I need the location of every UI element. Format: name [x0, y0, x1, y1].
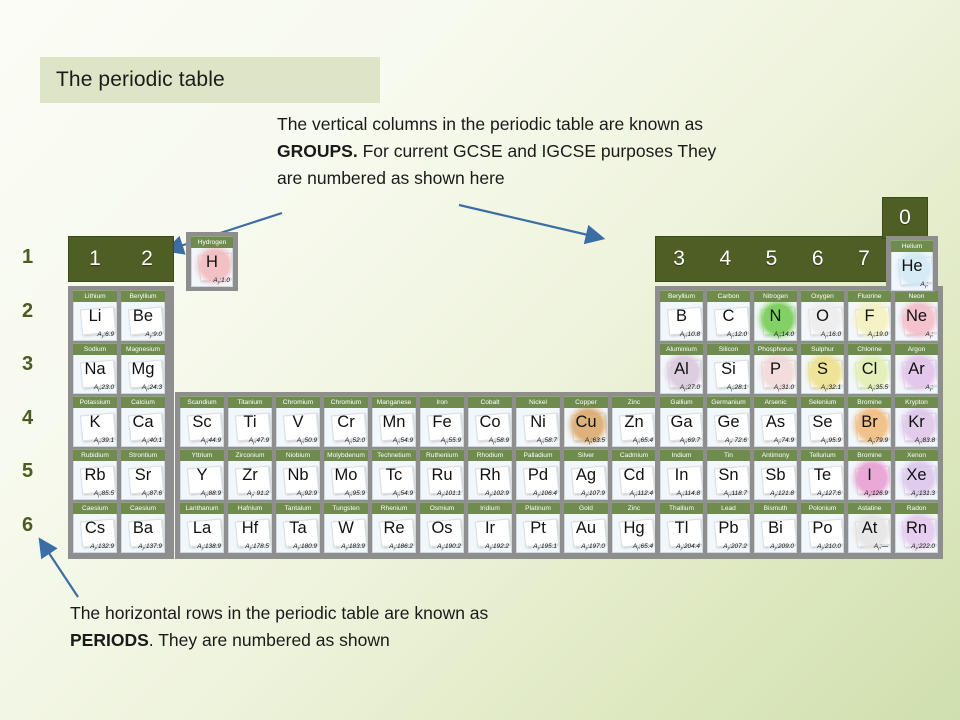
element-relative-atomic-mass: Ar;58.7 — [537, 437, 557, 446]
element-tile: SeAr;95.9 — [801, 408, 844, 447]
element-tile: KrAr;83.8 — [895, 408, 938, 447]
element-tile: OsAr;190.2 — [420, 514, 464, 553]
element-name: Palladium — [516, 449, 560, 461]
element-symbol: Tc — [373, 464, 415, 486]
element-name: Gold — [564, 502, 608, 514]
element-row: GalliumGaAr;69.7GermaniumGeAr; 72.6Arsen… — [658, 395, 940, 448]
element-name: Molybdenum — [324, 449, 368, 461]
element-tile: OAr;16.0 — [801, 302, 844, 341]
element-symbol: Rh — [469, 464, 511, 486]
element-symbol: Ga — [661, 411, 702, 433]
element-relative-atomic-mass: Ar;69.7 — [680, 437, 700, 446]
element-relative-atomic-mass: Ar; 91.2 — [247, 490, 269, 499]
element-tile: MgAr;24.3 — [121, 355, 165, 394]
element-relative-atomic-mass: Ar;127.6 — [817, 490, 841, 499]
element-name: Sulphur — [801, 343, 844, 355]
element-cell-Hf[interactable]: HafniumHfAr;178.5 — [226, 501, 274, 554]
element-symbol: I — [849, 464, 890, 486]
element-symbol: S — [802, 358, 843, 380]
element-cell-Ru[interactable]: RutheniumRuAr;101.1 — [418, 448, 466, 501]
element-cell-Se[interactable]: SeleniumSeAr;95.9 — [799, 395, 846, 448]
period-number-3: 3 — [22, 353, 54, 407]
element-cell-Ni[interactable]: NickelNiAr;58.7 — [514, 395, 562, 448]
element-symbol: Ti — [229, 411, 271, 433]
element-cell-Mn[interactable]: ManganeseMnAr;54.9 — [370, 395, 418, 448]
element-tile: CaAr;40.1 — [121, 408, 165, 447]
element-relative-atomic-mass: Ar;23.0 — [94, 384, 114, 393]
element-relative-atomic-mass: Ar;10.8 — [680, 331, 700, 340]
element-cell-La[interactable]: LanthanumLaAr;138.9 — [178, 501, 226, 554]
element-tile: TlAr;204.4 — [660, 514, 703, 553]
element-cell-Sb[interactable]: AntimonySbAr;121.8 — [752, 448, 799, 501]
element-relative-atomic-mass: Ar;197.0 — [581, 543, 605, 552]
group-label-7: 7 — [841, 247, 887, 271]
element-symbol: Cu — [565, 411, 607, 433]
element-tile: NiAr;58.7 — [516, 408, 560, 447]
element-tile: CrAr;52.0 — [324, 408, 368, 447]
element-name: Hydrogen — [191, 236, 233, 248]
element-name: Zinc — [612, 396, 656, 408]
element-tile: RhAr;102.9 — [468, 461, 512, 500]
element-relative-atomic-mass: Ar;118.7 — [724, 490, 747, 499]
element-relative-atomic-mass: Ar; 72.6 — [725, 437, 747, 446]
element-name: Zirconium — [228, 449, 272, 461]
element-symbol: Mn — [373, 411, 415, 433]
element-cell-Ir[interactable]: IridiumIrAr;192.2 — [466, 501, 514, 554]
element-tile: BaAr;137.9 — [121, 514, 165, 553]
element-name: Thallium — [660, 502, 703, 514]
element-cell-Zr[interactable]: ZirconiumZrAr; 91.2 — [226, 448, 274, 501]
element-symbol: Hg — [613, 517, 655, 539]
element-cell-Pt[interactable]: PlatinumPtAr;195.1 — [514, 501, 562, 554]
element-symbol: Si — [708, 358, 749, 380]
groups-description: The vertical columns in the periodic tab… — [277, 111, 717, 192]
element-relative-atomic-mass: Ar;6.9 — [97, 331, 114, 340]
element-cell-O[interactable]: OxygenOAr;16.0 — [799, 289, 846, 342]
element-name: Iron — [420, 396, 464, 408]
element-tile: ZnAr;65.4 — [612, 408, 656, 447]
element-row: YttriumYAr;88.9ZirconiumZrAr; 91.2Niobiu… — [178, 448, 660, 501]
element-symbol: Zr — [229, 464, 271, 486]
group-label-2: 2 — [121, 247, 173, 271]
element-relative-atomic-mass: Ar;112.4 — [630, 490, 653, 499]
element-relative-atomic-mass: Ar;55.9 — [441, 437, 461, 446]
periods-description-part1: The horizontal rows in the periodic tabl… — [70, 603, 488, 623]
element-cell-W[interactable]: TungstenWAr;183.9 — [322, 501, 370, 554]
element-name: Silver — [564, 449, 608, 461]
element-symbol: Ge — [708, 411, 749, 433]
element-symbol: Rb — [74, 464, 116, 486]
element-name: Calcium — [121, 396, 165, 408]
element-relative-atomic-mass: Ar;24.3 — [142, 384, 162, 393]
element-tile: GaAr;69.7 — [660, 408, 703, 447]
element-tile: TiAr;47.9 — [228, 408, 272, 447]
element-tile: HeAr; — [891, 252, 933, 291]
element-tile: BiAr;209.0 — [754, 514, 797, 553]
element-name: Lithium — [73, 290, 117, 302]
element-cell-At[interactable]: AstatineAtAr;— — [846, 501, 893, 554]
element-symbol: Sn — [708, 464, 749, 486]
element-relative-atomic-mass: Ar;138.9 — [197, 543, 221, 552]
element-cell-B[interactable]: BerylliumBAr;10.8 — [658, 289, 705, 342]
element-cell-K[interactable]: PotassiumKAr;39.1 — [71, 395, 119, 448]
element-tile: TeAr;127.6 — [801, 461, 844, 500]
element-tile: CuAr;63.5 — [564, 408, 608, 447]
element-cell-P[interactable]: PhosphorusPAr;31.0 — [752, 342, 799, 395]
period-number-list: 123456 — [22, 246, 54, 567]
element-cell-Zn[interactable]: ZincZnAr;65.4 — [610, 395, 658, 448]
element-tile: GeAr; 72.6 — [707, 408, 750, 447]
element-name: Chlorine — [848, 343, 891, 355]
element-symbol: W — [325, 517, 367, 539]
element-relative-atomic-mass: Ar;121.8 — [770, 490, 794, 499]
element-row: BerylliumBAr;10.8CarbonCAr;12.0NitrogenN… — [658, 289, 940, 342]
element-tile: VAr;50.9 — [276, 408, 320, 447]
element-cell-Br[interactable]: BromineBrAr;79.9 — [846, 395, 893, 448]
element-cell-Ca[interactable]: CalciumCaAr;40.1 — [119, 395, 167, 448]
element-cell-Au[interactable]: GoldAuAr;197.0 — [562, 501, 610, 554]
element-name: Radon — [895, 502, 938, 514]
element-tile: PtAr;195.1 — [516, 514, 560, 553]
element-tile: SnAr;118.7 — [707, 461, 750, 500]
element-relative-atomic-mass: Ar;50.9 — [297, 437, 317, 446]
element-cell-Rb[interactable]: RubidiumRbAr;85.5 — [71, 448, 119, 501]
element-cell-Nb[interactable]: NiobiumNbAr;92.9 — [274, 448, 322, 501]
element-cell-Pb[interactable]: LeadPbAr;207.2 — [705, 501, 752, 554]
element-symbol: As — [755, 411, 796, 433]
element-tile: PbAr;207.2 — [707, 514, 750, 553]
element-name: Rhenium — [372, 502, 416, 514]
element-tile: TaAr;180.9 — [276, 514, 320, 553]
element-tile: InAr;114.8 — [660, 461, 703, 500]
element-relative-atomic-mass: Ar;131.3 — [911, 490, 935, 499]
element-relative-atomic-mass: Ar;195.1 — [533, 543, 557, 552]
element-tile: FAr;19.0 — [848, 302, 891, 341]
element-row: HeliumHeAr; — [889, 239, 935, 292]
element-relative-atomic-mass: Ar;9.0 — [145, 331, 162, 340]
element-symbol: Mo — [325, 464, 367, 486]
element-cell-Mg[interactable]: MagnesiumMgAr;24.3 — [119, 342, 167, 395]
element-cell-Ga[interactable]: GalliumGaAr;69.7 — [658, 395, 705, 448]
slide-title-bar: The periodic table — [40, 57, 380, 103]
element-relative-atomic-mass: Ar;222.0 — [911, 543, 935, 552]
element-cell-Po[interactable]: PoloniumPoAr;210.0 — [799, 501, 846, 554]
element-relative-atomic-mass: Ar;87.6 — [142, 490, 162, 499]
element-tile: NAr;14.0 — [754, 302, 797, 341]
element-tile: HgAr;65.4 — [612, 514, 656, 553]
periodic-block-groups-3-0: BerylliumBAr;10.8CarbonCAr;12.0NitrogenN… — [655, 286, 943, 559]
element-name: Silicon — [707, 343, 750, 355]
element-name: Iridium — [468, 502, 512, 514]
element-cell-Cs[interactable]: CaesiumCsAr;132.9 — [71, 501, 119, 554]
element-tile: IAr;126.9 — [848, 461, 891, 500]
element-relative-atomic-mass: Ar;192.2 — [485, 543, 509, 552]
element-row: IndiumInAr;114.8TinSnAr;118.7AntimonySbA… — [658, 448, 940, 501]
element-tile: CAr;12.0 — [707, 302, 750, 341]
element-tile: CsAr;132.9 — [73, 514, 117, 553]
group-label-1: 1 — [69, 247, 121, 271]
element-cell-In[interactable]: IndiumInAr;114.8 — [658, 448, 705, 501]
element-cell-Si[interactable]: SiliconSiAr;28.1 — [705, 342, 752, 395]
element-name: Sodium — [73, 343, 117, 355]
element-cell-Kr[interactable]: KryptonKrAr;83.8 — [893, 395, 940, 448]
element-symbol: Pb — [708, 517, 749, 539]
element-symbol: B — [661, 305, 702, 327]
element-cell-Ba[interactable]: CaesiumBaAr;137.9 — [119, 501, 167, 554]
element-tile: KAr;39.1 — [73, 408, 117, 447]
element-cell-Al[interactable]: AluminiumAlAr;27.0 — [658, 342, 705, 395]
element-relative-atomic-mass: Ar;210.0 — [817, 543, 841, 552]
element-symbol: Cs — [74, 517, 116, 539]
element-relative-atomic-mass: Ar;204.4 — [676, 543, 700, 552]
element-symbol: Ru — [421, 464, 463, 486]
element-symbol: Mg — [122, 358, 164, 380]
element-name: Rubidium — [73, 449, 117, 461]
element-cell-Mo[interactable]: MolybdenumMoAr;95.9 — [322, 448, 370, 501]
element-name: Germanium — [707, 396, 750, 408]
element-tile: SbAr;121.8 — [754, 461, 797, 500]
element-cell-Be[interactable]: BerylliumBeAr;9.0 — [119, 289, 167, 342]
element-relative-atomic-mass: Ar;28.1 — [727, 384, 747, 393]
element-tile: AlAr;27.0 — [660, 355, 703, 394]
element-relative-atomic-mass: Ar;114.8 — [677, 490, 700, 499]
element-relative-atomic-mass: Ar;74.9 — [774, 437, 794, 446]
element-relative-atomic-mass: Ar;1.0 — [213, 277, 230, 286]
element-name: Platinum — [516, 502, 560, 514]
element-symbol: Ag — [565, 464, 607, 486]
element-name: Tungsten — [324, 502, 368, 514]
element-name: Yttrium — [180, 449, 224, 461]
element-tile: ArAr; — [895, 355, 938, 394]
element-name: Tellurium — [801, 449, 844, 461]
element-symbol: Pt — [517, 517, 559, 539]
element-relative-atomic-mass: Ar;83.8 — [915, 437, 935, 446]
element-name: Chromium — [324, 396, 368, 408]
element-cell-Ti[interactable]: TitaniumTiAr;47.9 — [226, 395, 274, 448]
element-cell-H[interactable]: HydrogenHAr;1.0 — [189, 235, 235, 288]
element-cell-Hg[interactable]: ZincHgAr;65.4 — [610, 501, 658, 554]
element-symbol: V — [277, 411, 319, 433]
element-cell-As[interactable]: ArsenicAsAr;74.9 — [752, 395, 799, 448]
element-cell-Cr[interactable]: ChromiumCrAr;52.0 — [322, 395, 370, 448]
element-cell-Cl[interactable]: ChlorineClAr;35.5 — [846, 342, 893, 395]
element-tile: SAr;32.1 — [801, 355, 844, 394]
element-cell-He[interactable]: HeliumHeAr; — [889, 239, 935, 292]
element-cell-Ar[interactable]: ArgonArAr; — [893, 342, 940, 395]
element-name: Phosphorus — [754, 343, 797, 355]
element-tile: BrAr;79.9 — [848, 408, 891, 447]
element-cell-Os[interactable]: OsmiumOsAr;190.2 — [418, 501, 466, 554]
element-name: Helium — [891, 240, 933, 252]
element-cell-Ne[interactable]: NeonNeAr; — [893, 289, 940, 342]
element-name: Tantalum — [276, 502, 320, 514]
element-relative-atomic-mass: Ar;39.1 — [94, 437, 114, 446]
element-name: Oxygen — [801, 290, 844, 302]
element-cell-Ta[interactable]: TantalumTaAr;180.9 — [274, 501, 322, 554]
element-symbol: Ta — [277, 517, 319, 539]
element-tile: CoAr;58.9 — [468, 408, 512, 447]
element-tile: YAr;88.9 — [180, 461, 224, 500]
element-cell-Sn[interactable]: TinSnAr;118.7 — [705, 448, 752, 501]
element-relative-atomic-mass: Ar; — [921, 281, 931, 290]
element-cell-Co[interactable]: CobaltCoAr;58.9 — [466, 395, 514, 448]
element-tile: XeAr;131.3 — [895, 461, 938, 500]
element-name: Arsenic — [754, 396, 797, 408]
element-relative-atomic-mass: Ar;183.9 — [341, 543, 365, 552]
element-name: Bromine — [848, 449, 891, 461]
element-tile: ClAr;35.5 — [848, 355, 891, 394]
element-cell-F[interactable]: FluorineFAr;19.0 — [846, 289, 893, 342]
element-cell-Cu[interactable]: CopperCuAr;63.5 — [562, 395, 610, 448]
element-tile: MoAr;95.9 — [324, 461, 368, 500]
element-cell-Na[interactable]: SodiumNaAr;23.0 — [71, 342, 119, 395]
element-symbol: In — [661, 464, 702, 486]
element-tile: AgAr;107.9 — [564, 461, 608, 500]
element-tile: PAr;31.0 — [754, 355, 797, 394]
element-tile: HfAr;178.5 — [228, 514, 272, 553]
element-symbol: Co — [469, 411, 511, 433]
element-tile: NeAr; — [895, 302, 938, 341]
element-symbol: Sr — [122, 464, 164, 486]
element-relative-atomic-mass: Ar;47.9 — [249, 437, 269, 446]
period-number-1: 1 — [22, 246, 54, 300]
element-name: Bromine — [848, 396, 891, 408]
element-symbol: Tl — [661, 517, 702, 539]
element-name: Rhodium — [468, 449, 512, 461]
element-symbol: Be — [122, 305, 164, 327]
element-tile: AsAr;74.9 — [754, 408, 797, 447]
element-cell-Li[interactable]: LithiumLiAr;6.9 — [71, 289, 119, 342]
element-row: ThalliumTlAr;204.4LeadPbAr;207.2BismuthB… — [658, 501, 940, 554]
element-row: LanthanumLaAr;138.9HafniumHfAr;178.5Tant… — [178, 501, 660, 554]
element-tile: NaAr;23.0 — [73, 355, 117, 394]
element-relative-atomic-mass: Ar;92.9 — [297, 490, 317, 499]
element-cell-Te[interactable]: TelluriumTeAr;127.6 — [799, 448, 846, 501]
element-symbol: Ne — [896, 305, 937, 327]
groups-keyword: GROUPS. — [277, 141, 358, 161]
element-tile: ZrAr; 91.2 — [228, 461, 272, 500]
element-name: Zinc — [612, 502, 656, 514]
element-cell-Ge[interactable]: GermaniumGeAr; 72.6 — [705, 395, 752, 448]
element-tile: PoAr;210.0 — [801, 514, 844, 553]
element-symbol: Sb — [755, 464, 796, 486]
group-label-6: 6 — [795, 247, 841, 271]
element-symbol: He — [892, 255, 932, 277]
element-tile: FeAr;55.9 — [420, 408, 464, 447]
element-tile: RuAr;101.1 — [420, 461, 464, 500]
element-name: Astatine — [848, 502, 891, 514]
element-cell-Re[interactable]: RheniumReAr;186.2 — [370, 501, 418, 554]
element-symbol: At — [849, 517, 890, 539]
element-symbol: Te — [802, 464, 843, 486]
element-cell-Ag[interactable]: SilverAgAr;107.9 — [562, 448, 610, 501]
element-row: ScandiumScAr;44.9TitaniumTiAr;47.9Chromi… — [178, 395, 660, 448]
group-label-3: 3 — [656, 247, 702, 271]
element-cell-Y[interactable]: YttriumYAr;88.9 — [178, 448, 226, 501]
element-name: Lead — [707, 502, 750, 514]
element-cell-Sc[interactable]: ScandiumScAr;44.9 — [178, 395, 226, 448]
periods-keyword: PERIODS — [70, 630, 149, 650]
element-cell-Tl[interactable]: ThalliumTlAr;204.4 — [658, 501, 705, 554]
element-cell-Rh[interactable]: RhodiumRhAr;102.9 — [466, 448, 514, 501]
element-symbol: Xe — [896, 464, 937, 486]
element-name: Potassium — [73, 396, 117, 408]
group-label-4: 4 — [702, 247, 748, 271]
element-cell-Xe[interactable]: XenonXeAr;131.3 — [893, 448, 940, 501]
element-name: Cobalt — [468, 396, 512, 408]
element-cell-Bi[interactable]: BismuthBiAr;209.0 — [752, 501, 799, 554]
element-cell-I[interactable]: BromineIAr;126.9 — [846, 448, 893, 501]
element-cell-Rn[interactable]: RadonRnAr;222.0 — [893, 501, 940, 554]
element-cell-Fe[interactable]: IronFeAr;55.9 — [418, 395, 466, 448]
element-cell-N[interactable]: NitrogenNAr;14.0 — [752, 289, 799, 342]
element-relative-atomic-mass: Ar; — [926, 384, 936, 393]
element-tile: BAr;10.8 — [660, 302, 703, 341]
element-cell-Sr[interactable]: StrontiumSrAr;87.6 — [119, 448, 167, 501]
element-row: PotassiumKAr;39.1CalciumCaAr;40.1 — [71, 395, 171, 448]
periodic-block-helium: HeliumHeAr; — [886, 236, 938, 291]
element-relative-atomic-mass: Ar;12.0 — [727, 331, 747, 340]
element-name: Beryllium — [660, 290, 703, 302]
element-relative-atomic-mass: Ar;58.9 — [489, 437, 509, 446]
element-symbol: Rn — [896, 517, 937, 539]
element-tile: AuAr;197.0 — [564, 514, 608, 553]
periods-description-part2: . They are numbered as shown — [149, 630, 390, 650]
element-tile: ScAr;44.9 — [180, 408, 224, 447]
element-cell-Tc[interactable]: TechnetiumTcAr;54.9 — [370, 448, 418, 501]
element-tile: RnAr;222.0 — [895, 514, 938, 553]
element-name: Beryllium — [121, 290, 165, 302]
element-name: Titanium — [228, 396, 272, 408]
element-name: Ruthenium — [420, 449, 464, 461]
element-cell-Cd[interactable]: CadmiumCdAr;112.4 — [610, 448, 658, 501]
element-relative-atomic-mass: Ar;44.9 — [201, 437, 221, 446]
element-relative-atomic-mass: Ar;178.5 — [245, 543, 269, 552]
element-symbol: Sc — [181, 411, 223, 433]
element-cell-S[interactable]: SulphurSAr;32.1 — [799, 342, 846, 395]
period-number-4: 4 — [22, 407, 54, 461]
element-symbol: Cl — [849, 358, 890, 380]
element-relative-atomic-mass: Ar;32.1 — [821, 384, 841, 393]
element-symbol: Na — [74, 358, 116, 380]
element-cell-Pd[interactable]: PalladiumPdAr;106.4 — [514, 448, 562, 501]
element-symbol: Ba — [122, 517, 164, 539]
element-symbol: P — [755, 358, 796, 380]
element-cell-V[interactable]: ChromiumVAr;50.9 — [274, 395, 322, 448]
element-name: Manganese — [372, 396, 416, 408]
element-cell-C[interactable]: CarbonCAr;12.0 — [705, 289, 752, 342]
arrow-to-groups-right — [455, 200, 615, 245]
element-name: Bismuth — [754, 502, 797, 514]
element-relative-atomic-mass: Ar;19.0 — [868, 331, 888, 340]
element-tile: PdAr;106.4 — [516, 461, 560, 500]
element-name: Lanthanum — [180, 502, 224, 514]
element-symbol: H — [192, 251, 232, 273]
element-name: Copper — [564, 396, 608, 408]
element-name: Chromium — [276, 396, 320, 408]
element-symbol: Os — [421, 517, 463, 539]
element-relative-atomic-mass: Ar;— — [874, 543, 888, 552]
element-name: Krypton — [895, 396, 938, 408]
element-symbol: F — [849, 305, 890, 327]
element-name: Technetium — [372, 449, 416, 461]
element-tile: SrAr;87.6 — [121, 461, 165, 500]
element-tile: WAr;183.9 — [324, 514, 368, 553]
element-tile: SiAr;28.1 — [707, 355, 750, 394]
element-symbol: Bi — [755, 517, 796, 539]
element-name: Selenium — [801, 396, 844, 408]
groups-description-part1: The vertical columns in the periodic tab… — [277, 114, 703, 134]
